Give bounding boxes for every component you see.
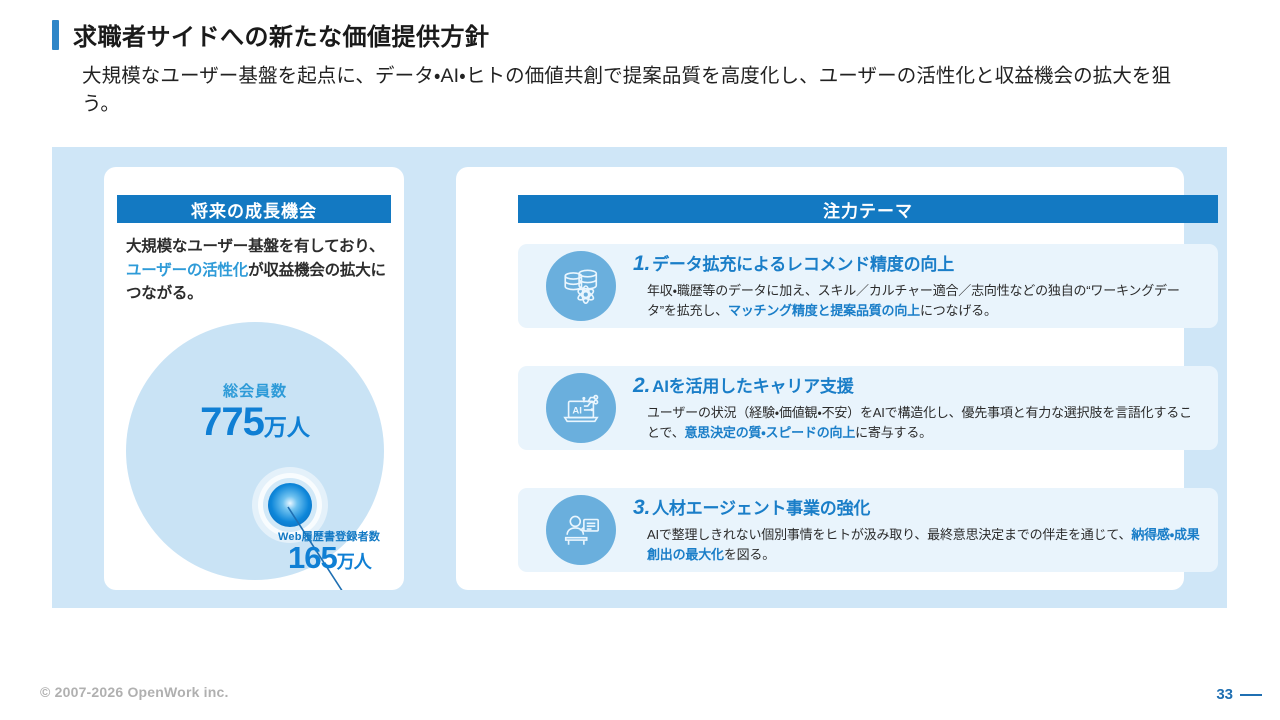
theme-1-desc-part-2: につなげる。 [920, 303, 997, 318]
title-accent-bar [52, 20, 59, 50]
title-text: 求職者サイドへの新たな価値提供方針 [73, 17, 490, 52]
copyright-text: © 2007-2026 OpenWork inc. [40, 684, 229, 700]
theme-3-number: 3. [633, 496, 650, 519]
theme-3-desc-part-1: AIで整理しきれない個別事情をヒトが汲み取り、最終意思決定までの伴走を通じて、 [647, 527, 1131, 542]
member-circle-value: 775万人 [126, 399, 384, 445]
theme-3-body: 3.人材エージェント事業の強化 AIで整理しきれない個別事情をヒトが汲み取り、最… [633, 493, 1204, 564]
member-count-unit: 万人 [264, 414, 310, 440]
theme-2-desc-part-2: に寄与する。 [855, 425, 932, 440]
theme-2-desc-highlight: 意思決定の質・スピードの向上 [685, 425, 856, 440]
page-number: 33 [1216, 686, 1262, 703]
theme-2-body: 2.AIを活用したキャリア支援 ユーザーの状況（経験・価値観・不安）をAIで構造… [633, 371, 1204, 442]
theme-item-3: 3.人材エージェント事業の強化 AIで整理しきれない個別事情をヒトが汲み取り、最… [518, 488, 1218, 572]
theme-1-title-text: データ拡充によるレコメンド精度の向上 [652, 255, 954, 274]
resume-count-unit: 万人 [337, 552, 371, 572]
desc-part-1: 大規模なユーザー基盤を有しており、 [126, 238, 384, 255]
page-number-dash [1240, 694, 1262, 696]
theme-2-description: ユーザーの状況（経験・価値観・不安）をAIで構造化し、優先事項と有力な選択肢を言… [647, 403, 1204, 442]
focus-themes-header-label: 注力テーマ [823, 197, 913, 222]
theme-item-1: 1.データ拡充によるレコメンド精度の向上 年収・職歴等のデータに加え、スキル／カ… [518, 244, 1218, 328]
growth-card-header-label: 将来の成長機会 [191, 197, 317, 222]
theme-2-number: 2. [633, 374, 650, 397]
theme-3-desc-part-2: を図る。 [724, 547, 775, 562]
theme-1-desc-highlight: マッチング精度と提案品質の向上 [728, 303, 920, 318]
focus-themes-header: 注力テーマ [518, 195, 1218, 223]
svg-text:AI: AI [572, 406, 582, 417]
slide-root: 求職者サイドへの新たな価値提供方針 大規模なユーザー基盤を起点に、データ・AI・… [0, 0, 1280, 720]
theme-2-title-text: AIを活用したキャリア支援 [652, 377, 853, 396]
member-circle-label: 総会員数 [126, 380, 384, 401]
growth-card-description: 大規模なユーザー基盤を有しており、ユーザーの活性化が収益機会の拡大につながる。 [126, 235, 388, 306]
theme-3-title-text: 人材エージェント事業の強化 [652, 499, 870, 518]
resume-callout-value: 165万人 [288, 540, 371, 576]
ai-laptop-icon: AI [546, 373, 616, 443]
theme-item-2: AI 2.AIを活用したキャリア支援 ユーザー [518, 366, 1218, 450]
page-title: 求職者サイドへの新たな価値提供方針 [52, 17, 490, 52]
resume-count-number: 165 [288, 540, 337, 575]
theme-3-description: AIで整理しきれない個別事情をヒトが汲み取り、最終意思決定までの伴走を通じて、納… [647, 525, 1204, 564]
theme-1-description: 年収・職歴等のデータに加え、スキル／カルチャー適合／志向性などの独自の“ワーキン… [647, 281, 1204, 320]
theme-1-number: 1. [633, 252, 650, 275]
page-number-value: 33 [1216, 686, 1233, 703]
focus-themes-card: 注力テーマ [456, 167, 1184, 590]
subtitle-text: 大規模なユーザー基盤を起点に、データ・AI・ヒトの価値共創で提案品質を高度化し、… [82, 63, 1207, 118]
diagram-container: 将来の成長機会 大規模なユーザー基盤を有しており、ユーザーの活性化が収益機会の拡… [52, 147, 1227, 608]
theme-3-title: 3.人材エージェント事業の強化 [633, 493, 1204, 522]
theme-2-title: 2.AIを活用したキャリア支援 [633, 371, 1204, 400]
growth-card-header: 将来の成長機会 [117, 195, 391, 223]
growth-opportunity-card: 将来の成長機会 大規模なユーザー基盤を有しており、ユーザーの活性化が収益機会の拡… [104, 167, 404, 590]
member-count-number: 775 [200, 400, 264, 444]
agent-person-icon [546, 495, 616, 565]
database-atom-icon [546, 251, 616, 321]
theme-1-body: 1.データ拡充によるレコメンド精度の向上 年収・職歴等のデータに加え、スキル／カ… [633, 249, 1204, 320]
desc-highlight: ユーザーの活性化 [126, 262, 248, 279]
theme-1-title: 1.データ拡充によるレコメンド精度の向上 [633, 249, 1204, 278]
